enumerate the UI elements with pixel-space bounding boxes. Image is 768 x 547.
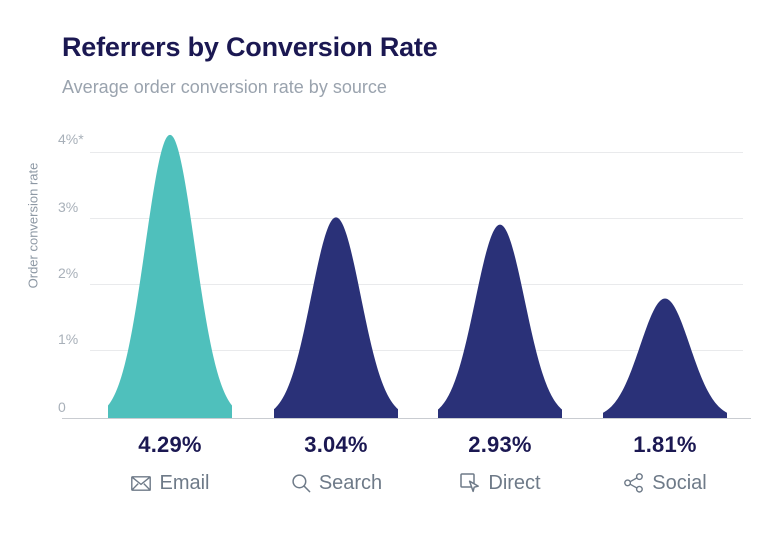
bar-direct[interactable] xyxy=(438,225,562,418)
cursor-click-icon xyxy=(459,472,481,494)
category-name: Email xyxy=(159,472,209,494)
bar-social[interactable] xyxy=(603,299,727,418)
category-social[interactable]: 1.81% Social xyxy=(565,430,765,494)
category-name: Direct xyxy=(488,472,540,494)
chart-container: Referrers by Conversion Rate Average ord… xyxy=(0,0,768,547)
bar-search[interactable] xyxy=(274,217,398,418)
share-network-icon xyxy=(623,472,645,494)
magnifier-icon xyxy=(290,472,312,494)
envelope-icon xyxy=(130,472,152,494)
category-name: Search xyxy=(319,472,382,494)
category-value: 1.81% xyxy=(565,430,765,460)
bar-email[interactable] xyxy=(108,135,232,418)
category-name: Social xyxy=(652,472,706,494)
